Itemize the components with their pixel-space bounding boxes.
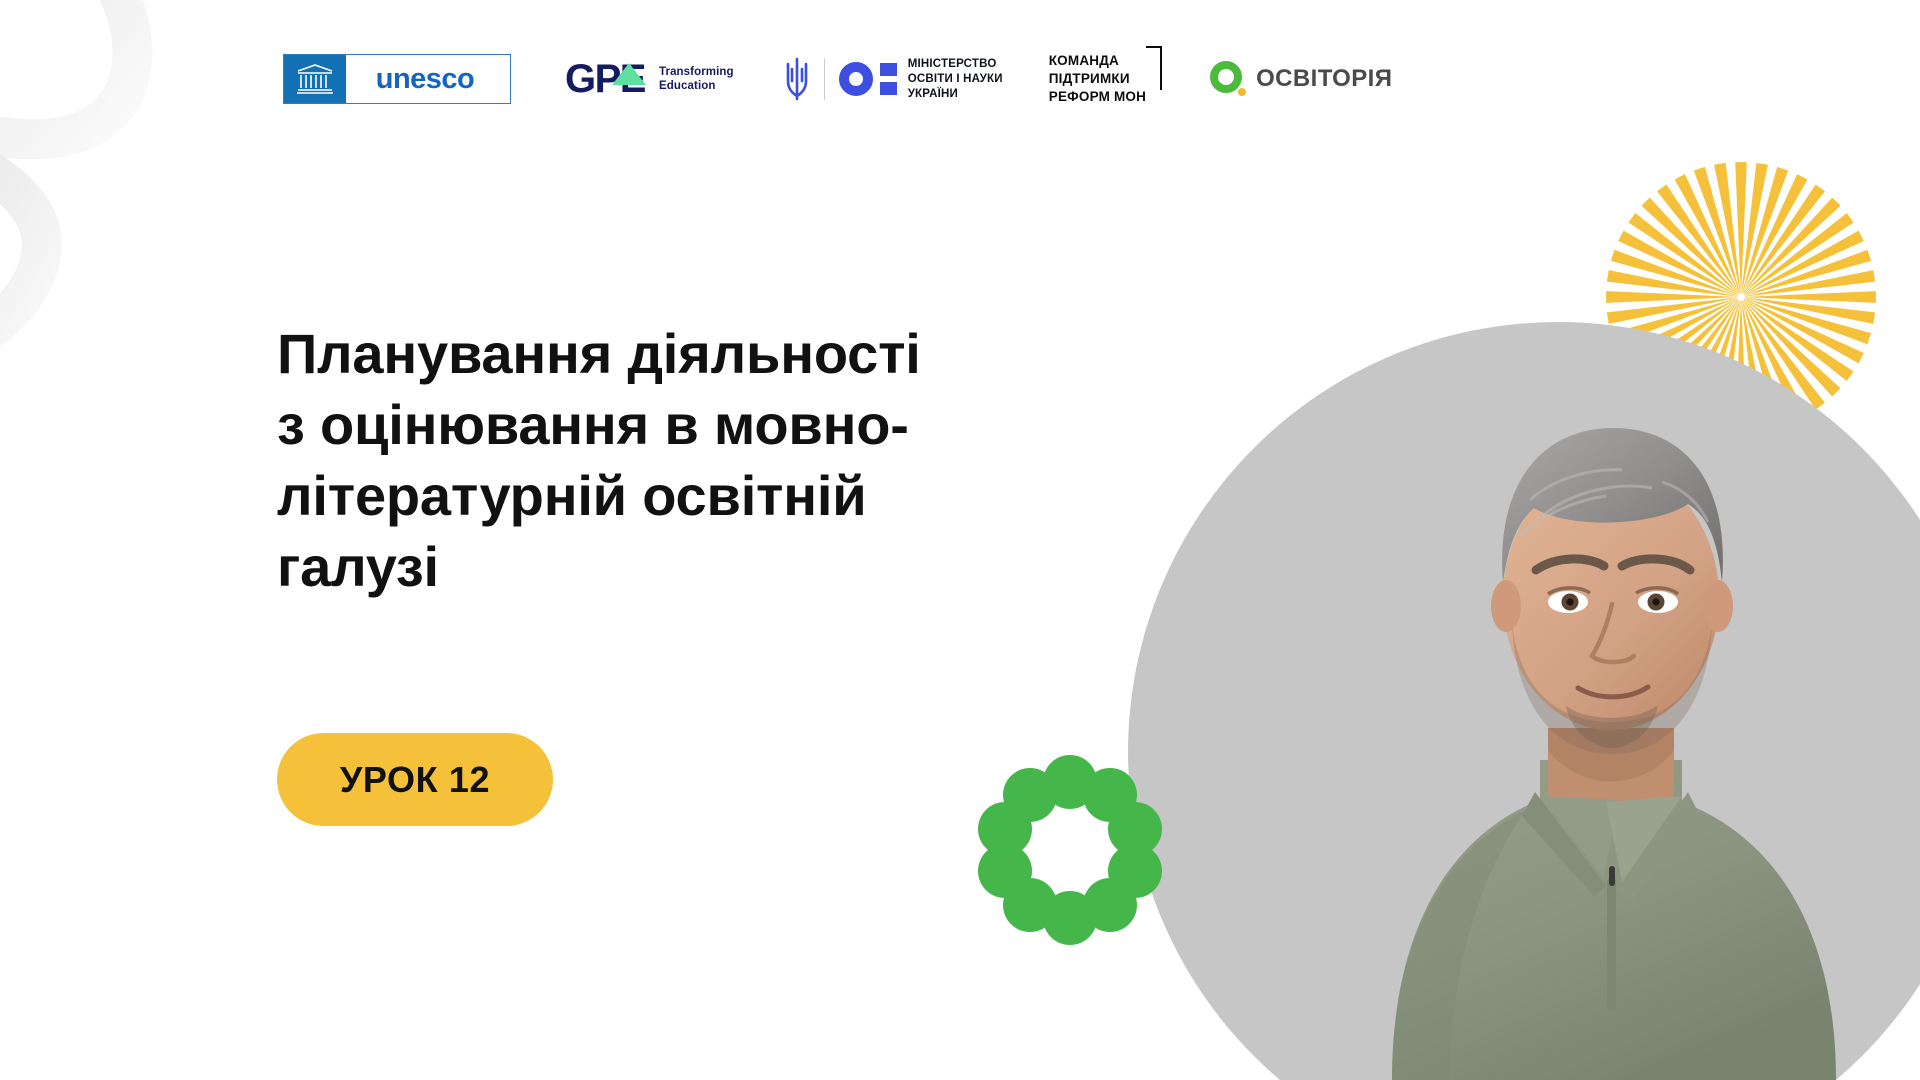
presenter-portrait: [1330, 330, 1890, 1080]
unesco-logo[interactable]: unesco: [283, 48, 511, 110]
ministry-of-education-logo[interactable]: МІНІСТЕРСТВО ОСВІТИ І НАУКИ УКРАЇНИ: [784, 48, 1003, 110]
corner-bracket-icon: [1146, 46, 1162, 90]
ukraine-trident-icon: [784, 57, 810, 101]
page-title: Планування діяльності з оцінювання в мов…: [277, 318, 1107, 602]
slide-root: unesco GPE Transforming Education: [0, 0, 1920, 1080]
ring-dot: [978, 802, 1032, 856]
gpe-tagline-line2: Education: [659, 79, 734, 93]
osvitoria-logo[interactable]: ОСВІТОРІЯ: [1210, 48, 1392, 110]
mon-bars-icon: [880, 63, 897, 95]
lesson-number-badge: УРОК 12: [277, 733, 553, 826]
ring-dot: [978, 844, 1032, 898]
gpe-logo[interactable]: GPE Transforming Education: [565, 48, 734, 110]
ring-dot: [1003, 768, 1057, 822]
ministry-line3: УКРАЇНИ: [908, 87, 1003, 102]
ministry-line2: ОСВІТИ І НАУКИ: [908, 72, 1003, 87]
ring-dot: [1043, 891, 1097, 945]
gpe-tagline: Transforming Education: [659, 65, 734, 93]
ministry-text: МІНІСТЕРСТВО ОСВІТИ І НАУКИ УКРАЇНИ: [908, 57, 1003, 102]
komanda-line1: КОМАНДА: [1049, 52, 1146, 70]
osvitoria-wordmark: ОСВІТОРІЯ: [1256, 65, 1392, 93]
ring-dot: [1003, 878, 1057, 932]
ring-dot: [1083, 878, 1137, 932]
ring-dot: [1043, 755, 1097, 809]
gpe-arrow-icon: [612, 63, 646, 85]
mon-ring-icon: [839, 62, 873, 96]
gpe-tagline-line1: Transforming: [659, 65, 734, 79]
unesco-wordmark: unesco: [346, 55, 510, 103]
ministry-line1: МІНІСТЕРСТВО: [908, 57, 1003, 72]
komanda-line2: ПІДТРИМКИ: [1049, 70, 1146, 88]
reform-support-team-logo[interactable]: КОМАНДА ПІДТРИМКИ РЕФОРМ МОН: [1049, 48, 1162, 110]
komanda-line3: РЕФОРМ МОН: [1049, 88, 1146, 106]
greek-temple-icon: [284, 55, 346, 103]
osvitoria-mark-icon: [1210, 61, 1246, 97]
partner-logos-bar: unesco GPE Transforming Education: [283, 48, 1392, 110]
logo-divider: [824, 58, 825, 100]
